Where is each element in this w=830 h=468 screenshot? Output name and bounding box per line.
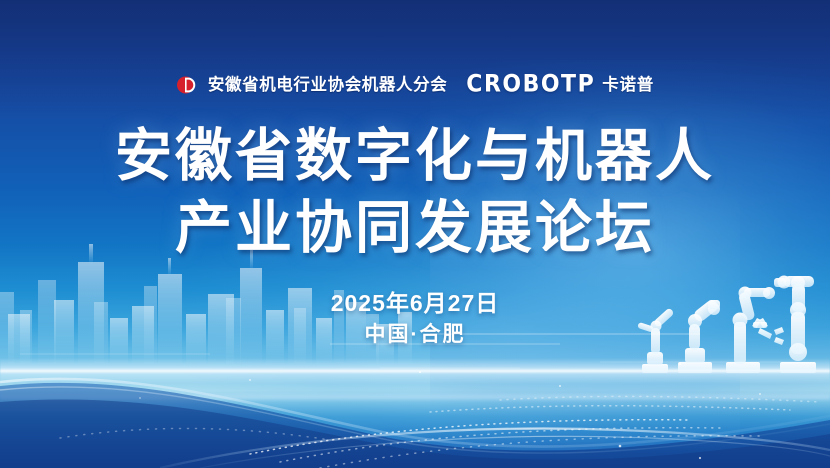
title-line-1: 安徽省数字化与机器人	[0, 120, 830, 192]
horizon-light-band-2	[0, 392, 830, 402]
brand-name-cn: 卡诺普	[602, 77, 654, 94]
poster-header: 安徽省机电行业协会机器人分会 CROBOTP 卡诺普	[0, 74, 830, 96]
brand-logo: CROBOTP 卡诺普	[466, 74, 654, 96]
top-shade-overlay	[0, 0, 830, 120]
horizon-light-band	[0, 358, 830, 384]
assoc-circle-d-icon	[176, 74, 199, 96]
association-name: 安徽省机电行业协会机器人分会	[208, 77, 447, 94]
poster-meta: 2025年6月27日 中国·合肥	[0, 288, 830, 350]
brand-wordmark: CROBOTP	[466, 73, 595, 97]
conference-poster: 安徽省机电行业协会机器人分会 CROBOTP 卡诺普 安徽省数字化与机器人 产业…	[0, 0, 830, 468]
event-location: 中国·合肥	[0, 320, 830, 350]
title-line-2: 产业协同发展论坛	[0, 192, 830, 264]
poster-title: 安徽省数字化与机器人 产业协同发展论坛	[0, 120, 830, 264]
event-date: 2025年6月27日	[0, 288, 830, 318]
